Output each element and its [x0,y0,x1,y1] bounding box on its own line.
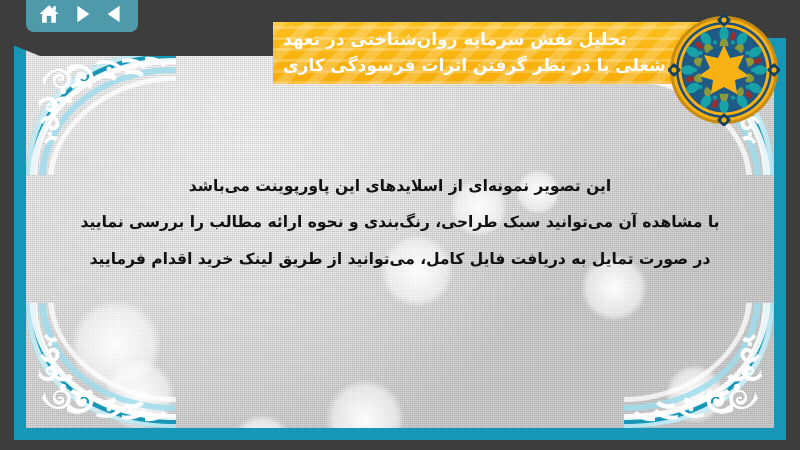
bokeh-circle [326,380,404,428]
bokeh-circle [71,300,161,390]
page-title-line-2: شغلی با در نظر گرفتن اثرات فرسودگی کاری [283,53,666,79]
bokeh-circle [231,415,293,428]
slide-body-text: این تصویر نمونه‌ای از اسلایدهای این پاور… [54,168,746,277]
body-line: با مشاهده آن می‌توانید سبک طراحی، رنگ‌بن… [54,204,746,240]
body-line: این تصویر نمونه‌ای از اسلایدهای این پاور… [54,168,746,204]
previous-slide-button[interactable] [102,1,128,27]
slide-title-banner: تحلیل نقش سرمایه روان‌شناختی در تعهد شغل… [273,22,718,84]
slide-navigation-bar [26,0,138,32]
slide-frame: این تصویر نمونه‌ای از اسلایدهای این پاور… [14,38,786,440]
next-slide-button[interactable] [69,1,95,27]
bokeh-circle [104,360,174,428]
page-title-line-1: تحلیل نقش سرمایه روان‌شناختی در تعهد [283,27,626,53]
bokeh-circle [666,365,724,423]
home-button[interactable] [36,1,62,27]
body-line: در صورت تمایل به دریافت فایل کامل، می‌تو… [54,241,746,277]
slide-canvas: این تصویر نمونه‌ای از اسلایدهای این پاور… [0,0,800,450]
